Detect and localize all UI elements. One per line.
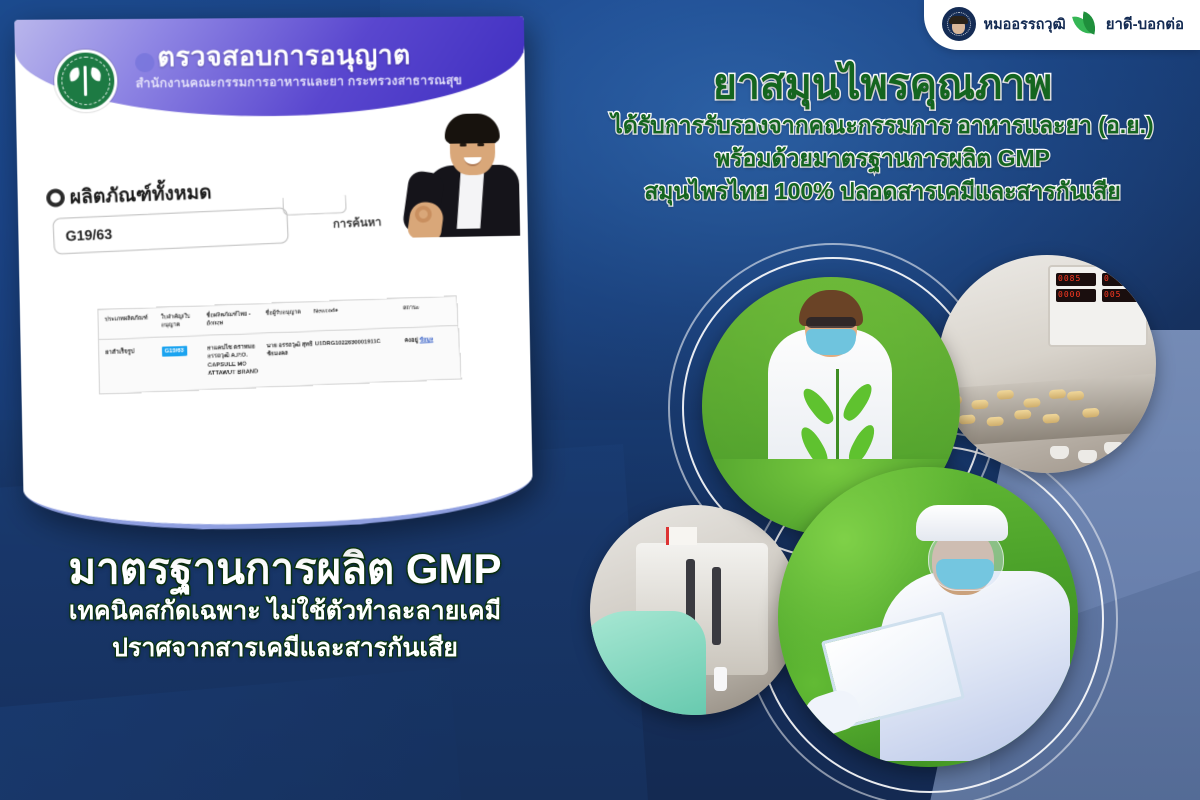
product-filter-label: ผลิตภัณฑ์ทั้งหมด xyxy=(69,177,212,212)
cell-product-type: ยาสำเร็จรูป xyxy=(105,347,162,358)
search-input[interactable]: G19/63 xyxy=(52,207,289,255)
cell-license: G19/63 xyxy=(162,345,208,357)
header-bullet-icon xyxy=(135,53,155,72)
gmp-title: มาตรฐานการผลิต GMP xyxy=(0,546,570,592)
gmp-block: มาตรฐานการผลิต GMP เทคนิคสกัดเฉพาะ ไม่ใช… xyxy=(0,546,570,666)
fda-caduceus-seal-icon xyxy=(54,49,118,112)
fda-card-body: ผลิตภัณฑ์ทั้งหมด G19/63 การค้นหา 12,014,… xyxy=(16,113,533,536)
cell-licensee: นาย อรรถวุฒิ สุทธิ ชัยมงคล xyxy=(266,341,315,359)
table-header-cell: Newcode xyxy=(314,306,404,324)
license-results-table: ประเภทผลิตภัณฑ์ ใบสำคัญ/ใบอนุญาต ชื่อผลิ… xyxy=(98,296,462,395)
headline-block: ยาสมุนไพรคุณภาพ ได้รับการรับรองจากคณะกรร… xyxy=(565,62,1200,206)
gmp-line-2: ปราศจากสารเคมีและสารกันเสีย xyxy=(0,632,570,666)
search-count-label: การค้นหา xyxy=(332,214,382,234)
table-header-cell: ชื่อผลิตภัณฑ์ไทย - อังกฤษ xyxy=(206,311,266,328)
table-header-cell: ประเภทผลิตภัณฑ์ xyxy=(105,315,161,332)
table-header-cell: ชื่อผู้รับอนุญาต xyxy=(265,309,314,326)
license-badge: G19/63 xyxy=(162,346,187,357)
fda-card-header: ตรวจสอบการอนุญาต สำนักงานคณะกรรมการอาหาร… xyxy=(14,16,525,119)
headline-line-3: สมุนไพรไทย 100% ปลอดสารเคมีและสารกันเสีย xyxy=(565,176,1200,207)
cell-product-name: ยาแคปไซ ตราหมอ อรรถวุฒิ A.P.O. CAPSULE M… xyxy=(207,343,267,378)
cell-status: คงอยู่ ข้อมูล xyxy=(404,335,452,345)
gmp-line-1: เทคนิคสกัดเฉพาะ ไม่ใช้ตัวทำละลายเคมี xyxy=(0,595,570,629)
table-header-cell: สถานะ xyxy=(403,304,452,321)
fda-screenshot-card: ตรวจสอบการอนุญาต สำนักงานคณะกรรมการอาหาร… xyxy=(14,16,533,536)
search-input-value: G19/63 xyxy=(65,226,112,244)
search-button[interactable] xyxy=(282,195,346,216)
status-badge: คงอยู่ xyxy=(404,338,418,344)
table-header-cell: ใบสำคัญ/ใบอนุญาต xyxy=(161,313,207,330)
radio-selected-icon xyxy=(46,189,65,208)
photo-bottling-line-operator xyxy=(590,505,800,715)
product-filter-radio[interactable]: ผลิตภัณฑ์ทั้งหมด xyxy=(46,177,212,213)
detail-link[interactable]: ข้อมูล xyxy=(419,337,433,343)
brand-tagline: ยาดี-บอกต่อ xyxy=(1106,12,1184,36)
photo-cluster: 0085 0 70 0000 005 xyxy=(590,255,1200,800)
ok-gesture-man-photo xyxy=(398,107,524,238)
leaf-icon xyxy=(1074,13,1098,35)
cell-newcode: U1DRG1022630001911C xyxy=(315,337,405,349)
fda-card-subtitle: สำนักงานคณะกรรมการอาหารและยา กระทรวงสาธา… xyxy=(135,70,462,93)
doctor-portrait-seal-icon xyxy=(942,7,976,41)
brand-name: หมออรรถวุฒิ xyxy=(984,13,1066,36)
photo-production-machine-control-panel: 0085 0 70 0000 005 xyxy=(938,255,1156,473)
headline-line-1: ได้รับการรับรองจากคณะกรรมการ อาหารและยา … xyxy=(565,110,1200,141)
brand-badge: หมออรรถวุฒิ ยาดี-บอกต่อ xyxy=(924,0,1200,50)
headline-main: ยาสมุนไพรคุณภาพ xyxy=(565,62,1200,108)
headline-line-2: พร้อมด้วยมาตรฐานการผลิต GMP xyxy=(565,143,1200,174)
photo-inspector-with-clipboard-in-field xyxy=(778,467,1078,767)
poster-canvas: หมออรรถวุฒิ ยาดี-บอกต่อ ยาสมุนไพรคุณภาพ … xyxy=(0,0,1200,800)
